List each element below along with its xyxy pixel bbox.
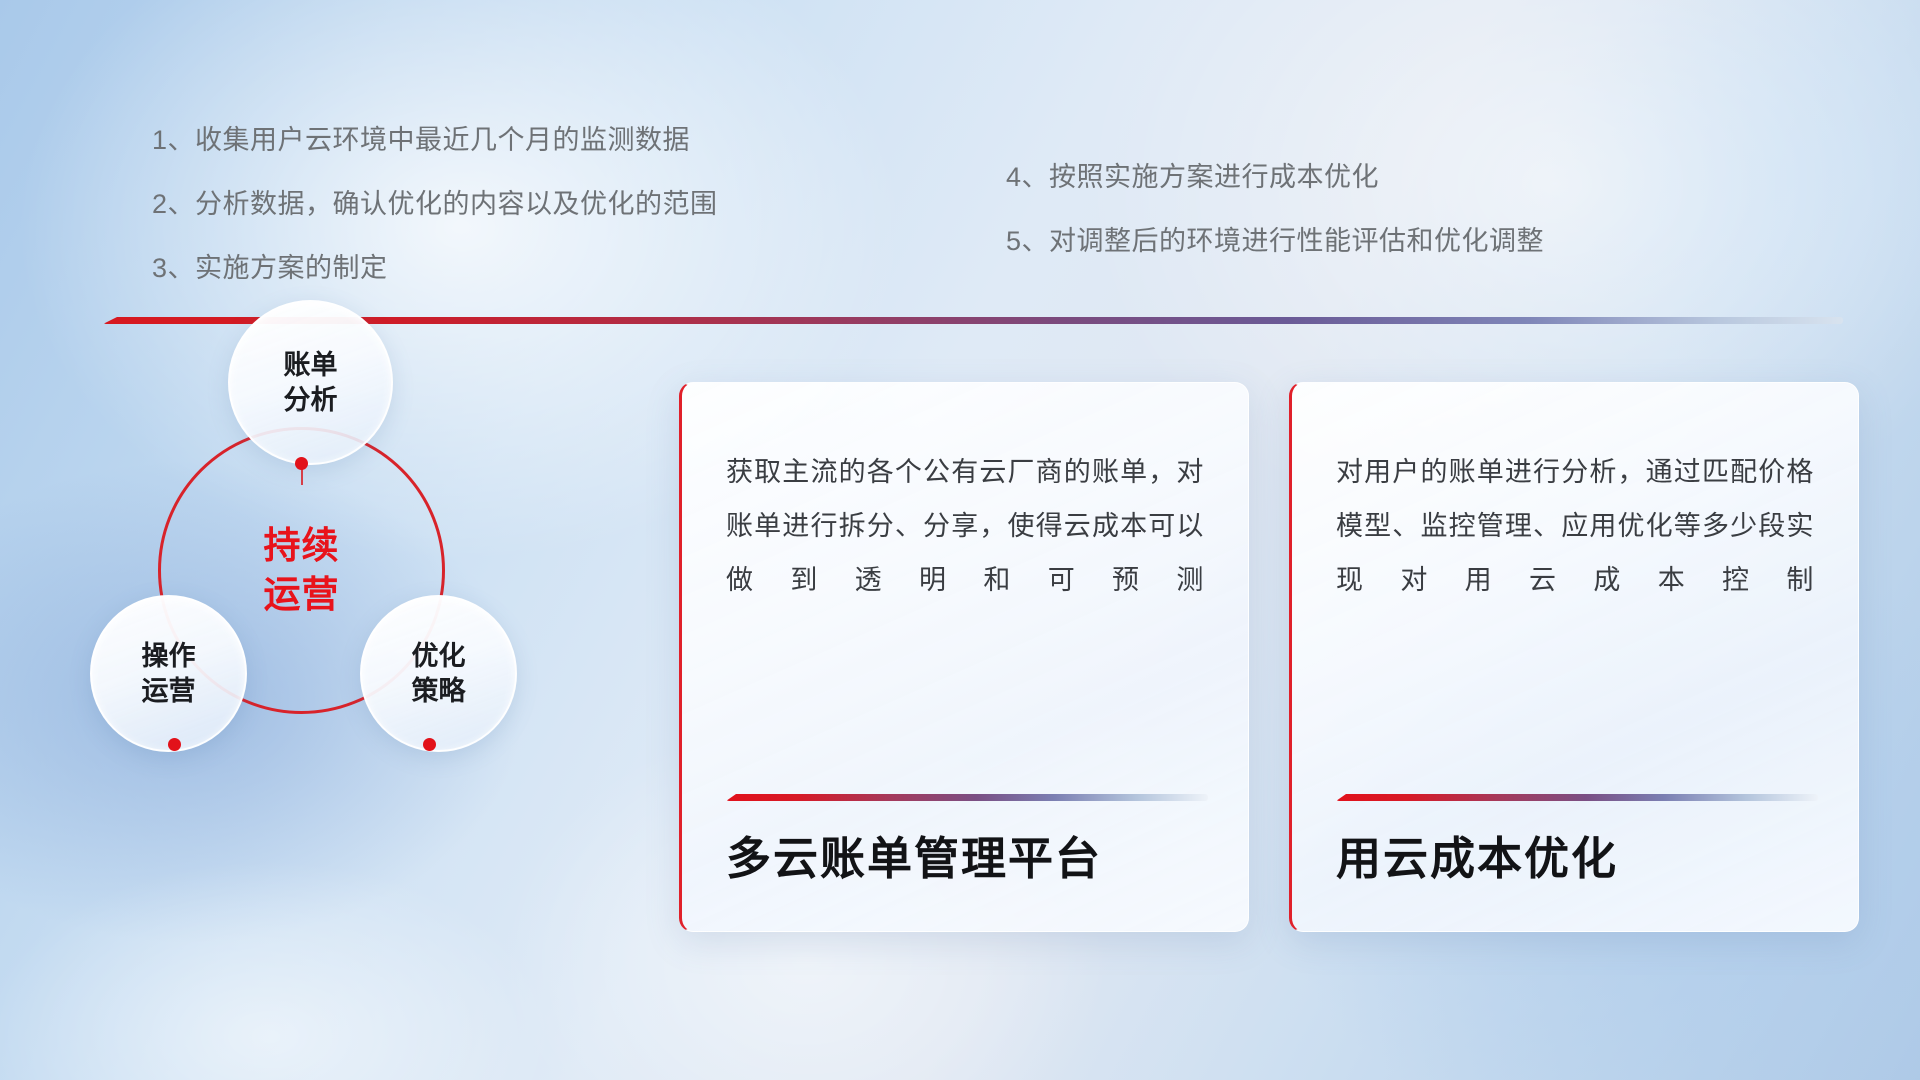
diagram-node-operations-line-2: 运营 — [142, 674, 196, 708]
diagram-dot-left-icon — [168, 738, 181, 751]
feature-card-2-title: 用云成本优化 — [1336, 822, 1618, 887]
diagram-node-optimization-strategy[interactable]: 优化 策略 — [360, 595, 517, 752]
diagram-node-optimization-strategy-line-1: 优化 — [412, 639, 466, 673]
diagram-dot-top-icon — [295, 457, 308, 470]
feature-card-2-description: 对用户的账单进行分析，通过匹配价格模型、监控管理、应用优化等多少段实现对用云成本… — [1336, 445, 1814, 607]
diagram-node-bill-analysis-line-1: 账单 — [284, 348, 338, 382]
diagram-node-bill-analysis[interactable]: 账单 分析 — [228, 300, 393, 465]
diagram-center-line-1: 持续 — [264, 522, 340, 570]
diagram-center-line-2: 运营 — [264, 571, 340, 619]
continuous-operations-diagram: 持续 运营 账单 分析 操作 运营 优化 策略 — [95, 355, 565, 945]
feature-card-1-description: 获取主流的各个公有云厂商的账单，对账单进行拆分、分享，使得云成本可以做到透明和可… — [726, 445, 1204, 607]
diagram-node-optimization-strategy-line-2: 策略 — [412, 674, 466, 708]
diagram-node-operations[interactable]: 操作 运营 — [90, 595, 247, 752]
feature-card-1-title: 多云账单管理平台 — [726, 822, 1102, 887]
feature-card-1-divider — [726, 794, 1208, 801]
feature-card-2-divider — [1336, 794, 1818, 801]
step-item-5: 5、对调整后的环境进行性能评估和优化调整 — [1006, 219, 1544, 258]
process-steps: 1、收集用户云环境中最近几个月的监测数据 2、分析数据，确认优化的内容以及优化的… — [0, 0, 1920, 250]
step-item-4: 4、按照实施方案进行成本优化 — [1006, 155, 1379, 194]
diagram-node-bill-analysis-line-2: 分析 — [284, 383, 338, 417]
feature-card-cloud-cost-optimization[interactable]: 对用户的账单进行分析，通过匹配价格模型、监控管理、应用优化等多少段实现对用云成本… — [1289, 382, 1859, 932]
step-item-3: 3、实施方案的制定 — [152, 246, 388, 285]
diagram-dot-right-icon — [423, 738, 436, 751]
feature-card-multi-cloud-billing[interactable]: 获取主流的各个公有云厂商的账单，对账单进行拆分、分享，使得云成本可以做到透明和可… — [679, 382, 1249, 932]
diagram-node-operations-line-1: 操作 — [142, 639, 196, 673]
step-item-1: 1、收集用户云环境中最近几个月的监测数据 — [152, 118, 690, 157]
step-item-2: 2、分析数据，确认优化的内容以及优化的范围 — [152, 182, 718, 221]
